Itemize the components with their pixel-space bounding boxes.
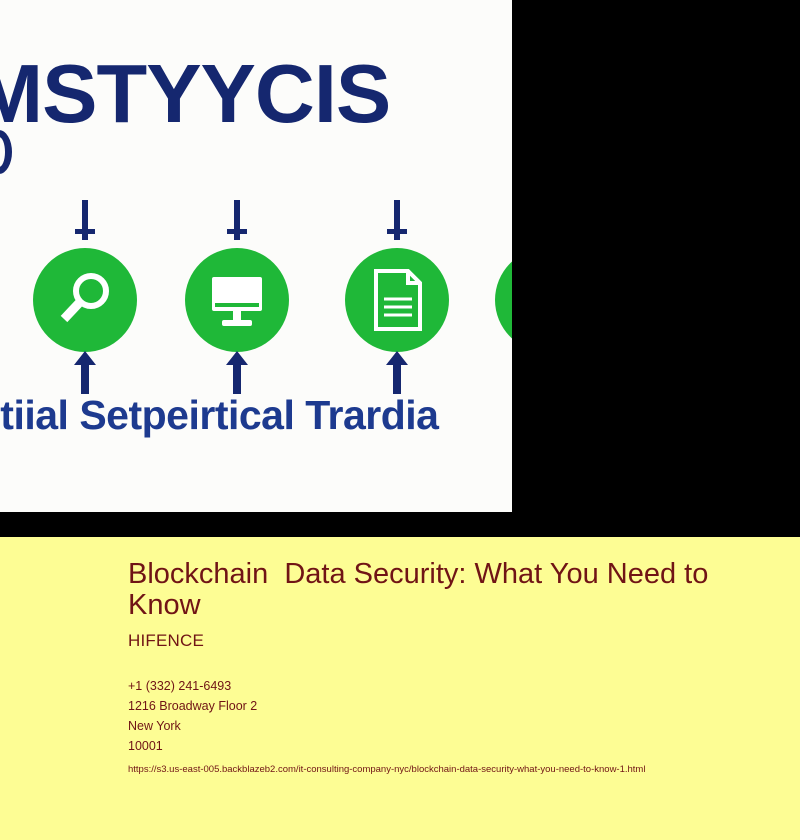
- article-url[interactable]: https://s3.us-east-005.backblazeb2.com/i…: [128, 763, 778, 776]
- hero-caption-text: ctiial Setpeirtical Trardia: [0, 392, 512, 439]
- icon-circle-3: [345, 248, 449, 352]
- article-title: Blockchain Data Security: What You Need …: [128, 559, 778, 621]
- arrow-down-icon: [394, 200, 400, 240]
- article-card: Blockchain Data Security: What You Need …: [0, 537, 800, 840]
- contact-zip: 10001: [128, 736, 778, 756]
- hero-icon-column-3: [342, 200, 452, 400]
- arrow-up-icon: [81, 362, 89, 394]
- hero-icon-column-4: [492, 200, 512, 400]
- icon-circle-2: [185, 248, 289, 352]
- hero-image: MSTYYCIS: [0, 0, 512, 512]
- icon-circle-1: [33, 248, 137, 352]
- contact-block: +1 (332) 241-6493 1216 Broadway Floor 2 …: [128, 676, 778, 756]
- arrow-up-icon: [393, 362, 401, 394]
- arrow-up-icon: [233, 362, 241, 394]
- arrow-down-icon: [82, 200, 88, 240]
- contact-city: New York: [128, 716, 778, 736]
- icon-circle-4: [495, 248, 512, 352]
- contact-street: 1216 Broadway Floor 2: [128, 696, 778, 716]
- hero-icon-column-1: [30, 200, 140, 400]
- arrow-down-icon: [234, 200, 240, 240]
- hero-headline-text: MSTYYCIS: [0, 48, 512, 140]
- media-panel: MSTYYCIS: [0, 0, 800, 537]
- contact-phone: +1 (332) 241-6493: [128, 676, 778, 696]
- hero-icon-column-2: [182, 200, 292, 400]
- monitor-icon: [185, 248, 289, 352]
- magnifier-icon: [33, 248, 137, 352]
- article-content: Blockchain Data Security: What You Need …: [128, 559, 778, 776]
- brand-name: HIFENCE: [128, 631, 778, 651]
- document-icon: [345, 248, 449, 352]
- page-root: MSTYYCIS: [0, 0, 800, 840]
